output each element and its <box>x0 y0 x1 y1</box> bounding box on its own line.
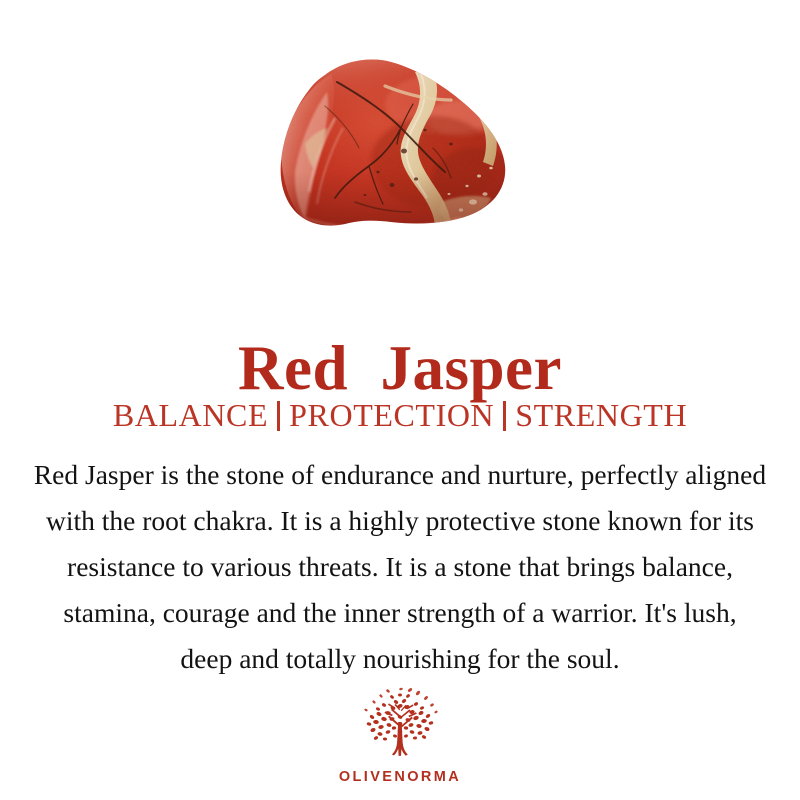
keyword-tagline: BALANCEPROTECTIONSTRENGTH <box>0 396 800 434</box>
description-paragraph: Red Jasper is the stone of endurance and… <box>12 452 788 682</box>
stone-body <box>265 52 535 252</box>
falling-leaves <box>364 687 438 713</box>
keyword-separator-icon <box>277 401 280 431</box>
keyword-protection: PROTECTION <box>289 397 494 433</box>
keyword-balance: BALANCE <box>113 397 268 433</box>
tree-of-life-icon <box>348 686 452 766</box>
red-jasper-stone-image <box>265 52 535 252</box>
keyword-strength: STRENGTH <box>515 397 687 433</box>
hero-image-container <box>0 52 800 252</box>
keyword-separator-icon <box>503 401 506 431</box>
description-line: stamina, courage and the inner strength … <box>12 590 788 636</box>
description-line: deep and totally nourishing for the soul… <box>12 636 788 682</box>
description-line: with the root chakra. It is a highly pro… <box>12 498 788 544</box>
page-title: Red Jasper <box>0 334 800 402</box>
brand-logo: OLIVENORMA <box>0 686 800 785</box>
description-line: resistance to various threats. It is a s… <box>12 544 788 590</box>
brand-wordmark: OLIVENORMA <box>339 769 461 785</box>
description-line: Red Jasper is the stone of endurance and… <box>12 452 788 498</box>
product-info-card: Red Jasper BALANCEPROTECTIONSTRENGTH Red… <box>0 0 800 800</box>
